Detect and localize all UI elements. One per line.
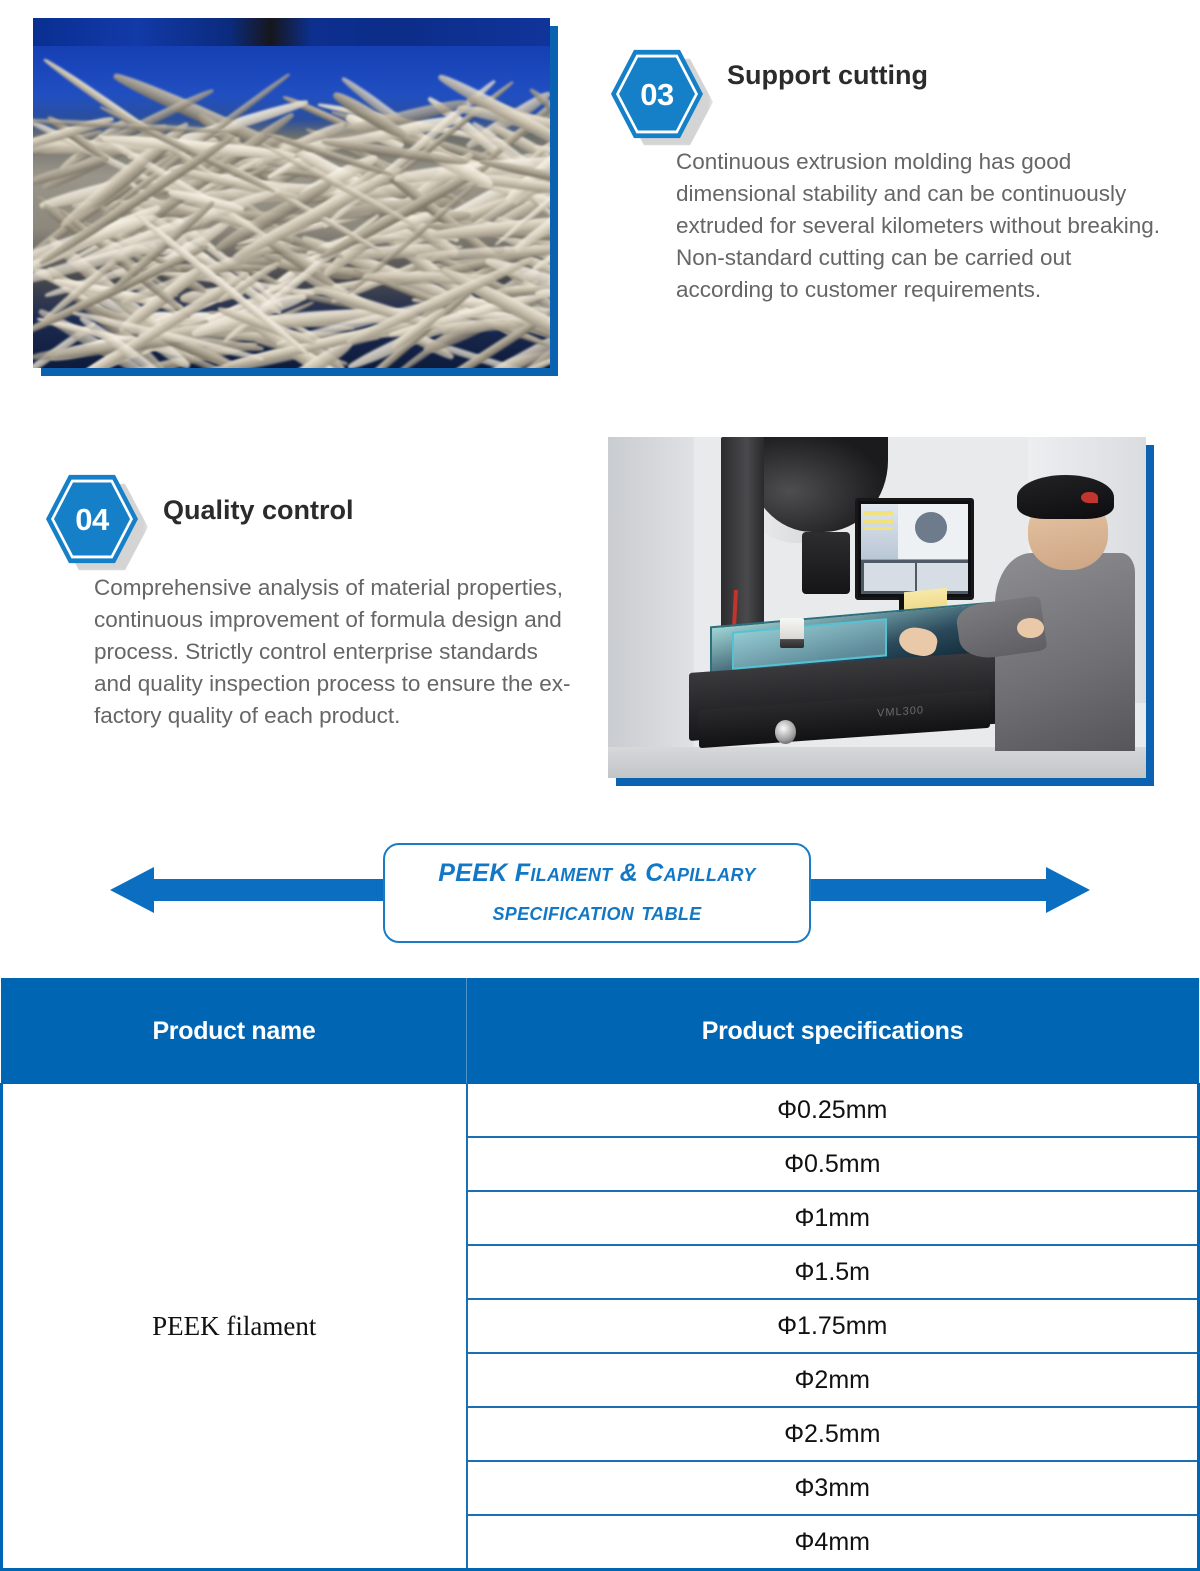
qc-screen-measured-circle xyxy=(915,512,947,543)
arrow-right-icon xyxy=(1046,867,1090,913)
step-badge-04: 04 xyxy=(46,473,138,565)
cell-product-specification: Φ0.25mm xyxy=(467,1084,1199,1138)
qc-adjust-knob xyxy=(775,720,797,744)
quality-control-image: VML300 xyxy=(608,437,1146,778)
table-header-row: Product name Product specifications xyxy=(2,979,1199,1084)
qc-wall-left xyxy=(608,437,694,778)
table-header-product-specifications: Product specifications xyxy=(467,979,1199,1084)
section-title-03: Support cutting xyxy=(727,60,928,91)
machine-top-band xyxy=(33,18,550,46)
spec-table-banner: PEEK Filament & Capillary specification … xyxy=(0,843,1200,943)
table-header-product-name: Product name xyxy=(2,979,467,1084)
qc-camera-lens xyxy=(802,532,850,593)
qc-monitor-screen xyxy=(861,504,968,593)
cell-product-specification: Φ0.5mm xyxy=(467,1137,1199,1191)
cell-product-specification: Φ2mm xyxy=(467,1353,1199,1407)
banner-title-line-1: PEEK Filament & Capillary xyxy=(438,854,755,893)
cell-product-specification: Φ1.75mm xyxy=(467,1299,1199,1353)
banner-title-box: PEEK Filament & Capillary specification … xyxy=(383,843,811,943)
peek-rods-photo xyxy=(33,18,550,368)
specification-table: Product name Product specifications PEEK… xyxy=(0,978,1200,1571)
qc-cap-logo-icon xyxy=(1081,492,1097,504)
qc-operator-cap xyxy=(1017,475,1114,519)
cell-product-specification: Φ1.5m xyxy=(467,1245,1199,1299)
qc-monitor xyxy=(855,498,974,599)
qc-floor xyxy=(608,747,1146,778)
cell-product-specification: Φ1mm xyxy=(467,1191,1199,1245)
step-badge-03: 03 xyxy=(611,48,703,140)
cell-product-specification: Φ2.5mm xyxy=(467,1407,1199,1461)
table-body: PEEK filamentΦ0.25mmΦ0.5mmΦ1mmΦ1.5mΦ1.75… xyxy=(2,1084,1199,1570)
cell-product-name: PEEK filament xyxy=(2,1084,467,1570)
table-row: PEEK filamentΦ0.25mm xyxy=(2,1084,1199,1138)
qc-sample-jar xyxy=(780,618,804,649)
section-body-03: Continuous extrusion molding has good di… xyxy=(676,146,1170,306)
section-body-04: Comprehensive analysis of material prope… xyxy=(94,572,578,732)
cell-product-specification: Φ3mm xyxy=(467,1461,1199,1515)
cell-product-specification: Φ4mm xyxy=(467,1515,1199,1570)
banner-title-line-2: specification table xyxy=(493,893,702,932)
qc-operator-hand-right xyxy=(1017,618,1044,638)
qc-screen-bottom-panel xyxy=(861,559,968,594)
badge-number-03: 03 xyxy=(640,79,673,110)
section-title-04: Quality control xyxy=(163,495,354,526)
badge-number-04: 04 xyxy=(75,504,108,535)
peek-rods-image xyxy=(33,18,550,368)
qc-screen-left-panel xyxy=(861,504,898,559)
qc-screen-right-panel xyxy=(898,504,969,559)
quality-control-photo: VML300 xyxy=(608,437,1146,778)
